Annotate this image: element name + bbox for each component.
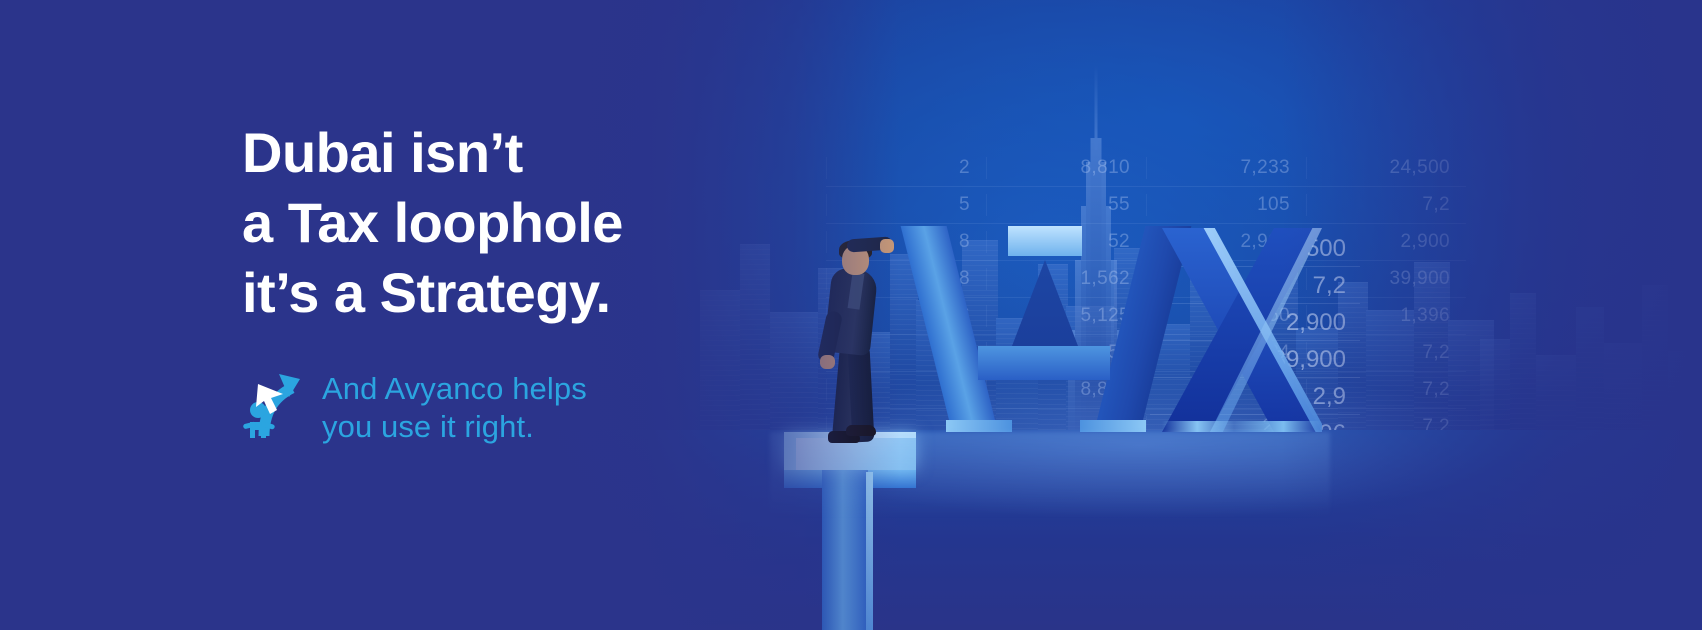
headline-line-2: a Tax loophole (242, 188, 802, 258)
subtext-block: And Avyanco helps you use it right. (242, 366, 802, 446)
spreadsheet-cell: 8,810 (986, 157, 1146, 179)
spreadsheet-cell: 55 (986, 194, 1146, 216)
headline: Dubai isn’t a Tax loophole it’s a Strate… (242, 118, 802, 328)
subtext: And Avyanco helps you use it right. (322, 366, 587, 446)
tax-strategy-banner: 28,8107,23324,5005551057,28522,9002,9003… (0, 0, 1702, 630)
subtext-line-1: And Avyanco helps (322, 370, 587, 408)
right-edge-fade (1282, 0, 1702, 630)
avyanco-logo-icon (242, 366, 304, 438)
subtext-line-2: you use it right. (322, 408, 587, 446)
headline-line-3: it’s a Strategy. (242, 258, 802, 328)
text-content: Dubai isn’t a Tax loophole it’s a Strate… (242, 118, 802, 446)
headline-line-1: Dubai isn’t (242, 118, 802, 188)
letter-a (946, 226, 1146, 432)
